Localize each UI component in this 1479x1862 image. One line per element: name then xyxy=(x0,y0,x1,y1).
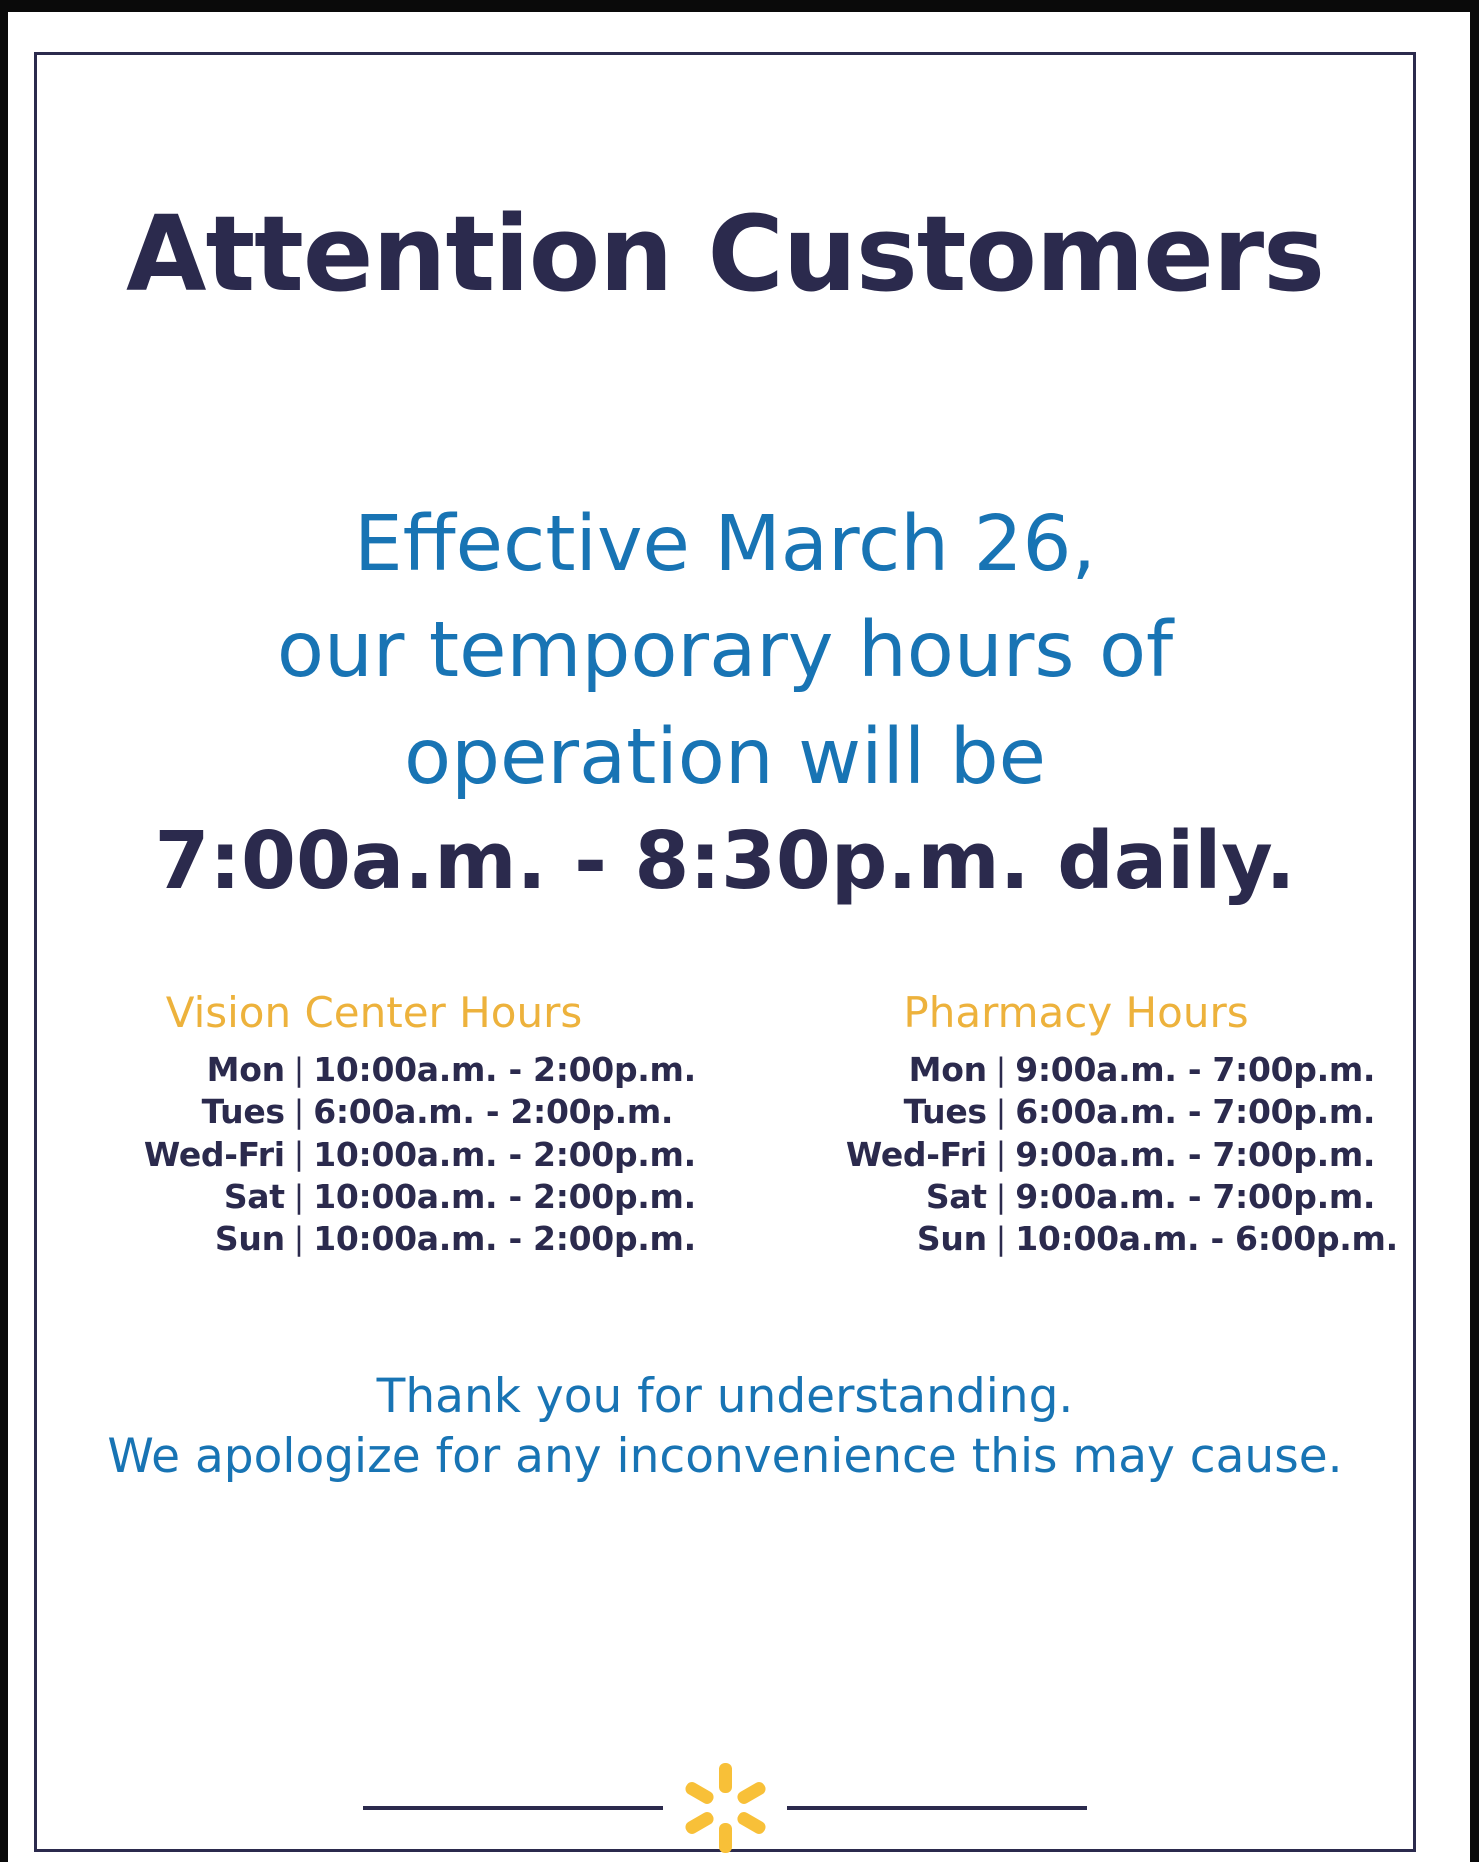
hours-row: Mon | 9:00a.m. - 7:00p.m. xyxy=(776,1049,1376,1091)
effective-line-3: operation will be xyxy=(34,705,1416,811)
hours-row: Tues | 6:00a.m. - 2:00p.m. xyxy=(74,1091,674,1133)
hours-time-value: 10:00a.m. - 2:00p.m. xyxy=(304,1218,643,1260)
poster-root: Attention Customers Effective March 26, … xyxy=(0,0,1479,1862)
hours-row: Sat | 10:00a.m. - 2:00p.m. xyxy=(74,1176,674,1218)
hours-time-value: 9:00a.m. - 7:00p.m. xyxy=(1006,1134,1345,1176)
vision-center-hours-block: Vision Center Hours Mon | 10:00a.m. - 2:… xyxy=(74,990,674,1260)
store-hours-statement: 7:00a.m. - 8:30p.m. daily. xyxy=(34,822,1416,901)
department-hours-columns: Vision Center Hours Mon | 10:00a.m. - 2:… xyxy=(74,990,1376,1260)
vision-center-hours-title: Vision Center Hours xyxy=(74,990,674,1036)
hours-day-label: Mon xyxy=(807,1049,996,1091)
hours-day-label: Sat xyxy=(105,1176,294,1218)
hours-separator: | xyxy=(294,1182,304,1213)
hours-row: Wed-Fri | 9:00a.m. - 7:00p.m. xyxy=(776,1134,1376,1176)
hours-time-value: 10:00a.m. - 2:00p.m. xyxy=(304,1176,643,1218)
hours-row: Sat | 9:00a.m. - 7:00p.m. xyxy=(776,1176,1376,1218)
closing-line-2: We apologize for any inconvenience this … xyxy=(34,1427,1416,1487)
hours-time-value: 10:00a.m. - 2:00p.m. xyxy=(304,1049,643,1091)
hours-time-value: 6:00a.m. - 2:00p.m. xyxy=(304,1091,643,1133)
page-title: Attention Customers xyxy=(34,202,1416,306)
hours-time-value: 9:00a.m. - 7:00p.m. xyxy=(1006,1049,1345,1091)
hours-day-label: Sat xyxy=(807,1176,996,1218)
brand-logo-area xyxy=(34,1760,1416,1856)
hours-separator: | xyxy=(294,1055,304,1086)
hours-separator: | xyxy=(996,1097,1006,1128)
hours-day-label: Sun xyxy=(807,1218,996,1260)
hours-time-value: 9:00a.m. - 7:00p.m. xyxy=(1006,1176,1345,1218)
effective-line-2: our temporary hours of xyxy=(34,598,1416,704)
closing-line-1: Thank you for understanding. xyxy=(34,1367,1416,1427)
hours-separator: | xyxy=(294,1139,304,1170)
hours-day-label: Tues xyxy=(807,1091,996,1133)
hours-day-label: Mon xyxy=(105,1049,294,1091)
hours-row: Tues | 6:00a.m. - 7:00p.m. xyxy=(776,1091,1376,1133)
closing-message: Thank you for understanding. We apologiz… xyxy=(34,1367,1416,1487)
hours-row: Sun | 10:00a.m. - 2:00p.m. xyxy=(74,1218,674,1260)
effective-line-1: Effective March 26, xyxy=(34,492,1416,598)
hours-separator: | xyxy=(294,1097,304,1128)
hours-day-label: Wed-Fri xyxy=(807,1134,996,1176)
hours-row: Wed-Fri | 10:00a.m. - 2:00p.m. xyxy=(74,1134,674,1176)
pharmacy-hours-block: Pharmacy Hours Mon | 9:00a.m. - 7:00p.m.… xyxy=(776,990,1376,1260)
walmart-spark-icon xyxy=(677,1760,773,1856)
logo-rule-right xyxy=(787,1806,1087,1810)
hours-separator: | xyxy=(996,1055,1006,1086)
effective-notice: Effective March 26, our temporary hours … xyxy=(34,492,1416,811)
hours-separator: | xyxy=(996,1182,1006,1213)
hours-row: Mon | 10:00a.m. - 2:00p.m. xyxy=(74,1049,674,1091)
pharmacy-hours-title: Pharmacy Hours xyxy=(776,990,1376,1036)
hours-separator: | xyxy=(996,1224,1006,1255)
poster-content: Attention Customers Effective March 26, … xyxy=(34,52,1416,1852)
hours-time-value: 6:00a.m. - 7:00p.m. xyxy=(1006,1091,1345,1133)
hours-day-label: Tues xyxy=(105,1091,294,1133)
hours-time-value: 10:00a.m. - 2:00p.m. xyxy=(304,1134,643,1176)
logo-rule-left xyxy=(363,1806,663,1810)
hours-day-label: Wed-Fri xyxy=(105,1134,294,1176)
hours-day-label: Sun xyxy=(105,1218,294,1260)
hours-row: Sun | 10:00a.m. - 6:00p.m. xyxy=(776,1218,1376,1260)
hours-separator: | xyxy=(294,1224,304,1255)
hours-time-value: 10:00a.m. - 6:00p.m. xyxy=(1006,1218,1345,1260)
hours-separator: | xyxy=(996,1139,1006,1170)
